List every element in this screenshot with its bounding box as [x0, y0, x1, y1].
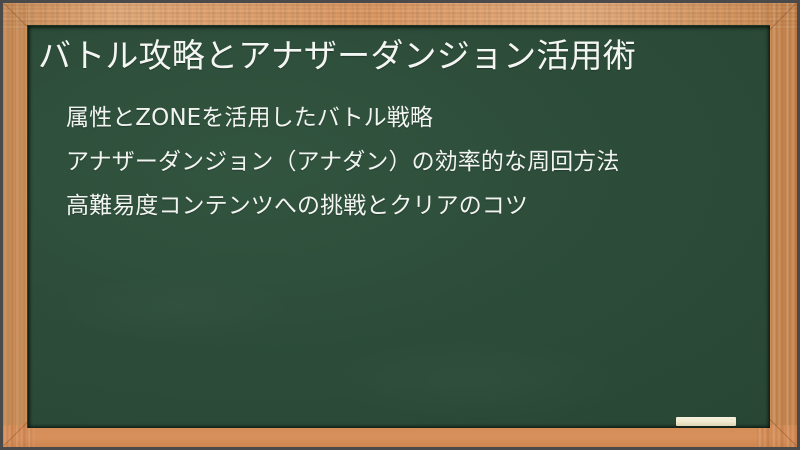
- list-item: 属性とZONEを活用したバトル戦略: [66, 102, 744, 134]
- chalkboard-surface: バトル攻略とアナザーダンジョン活用術 属性とZONEを活用したバトル戦略 アナザ…: [27, 25, 770, 428]
- topic-list: 属性とZONEを活用したバトル戦略 アナザーダンジョン（アナダン）の効率的な周回…: [34, 102, 744, 223]
- chalk-stick-icon: [676, 417, 736, 426]
- list-item: アナザーダンジョン（アナダン）の効率的な周回方法: [66, 146, 744, 178]
- board-content: バトル攻略とアナザーダンジョン活用術 属性とZONEを活用したバトル戦略 アナザ…: [28, 26, 770, 428]
- list-item: 高難易度コンテンツへの挑戦とクリアのコツ: [66, 190, 744, 222]
- slide-title: バトル攻略とアナザーダンジョン活用術: [34, 34, 744, 78]
- slide-canvas: バトル攻略とアナザーダンジョン活用術 属性とZONEを活用したバトル戦略 アナザ…: [0, 0, 800, 450]
